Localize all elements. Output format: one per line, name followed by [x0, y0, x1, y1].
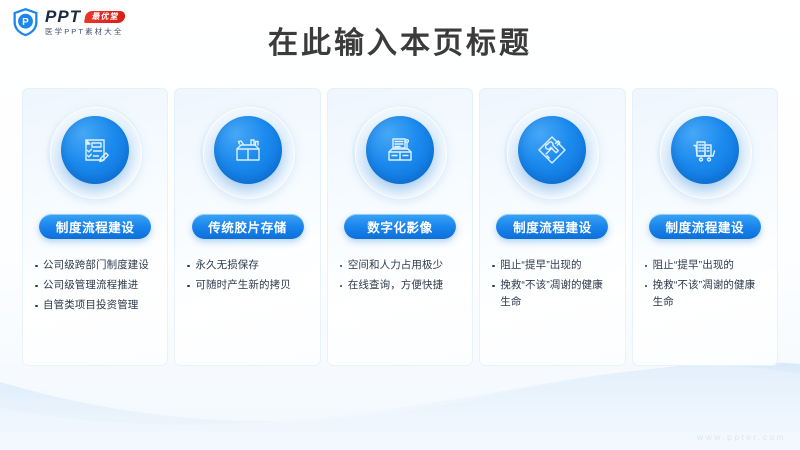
card-bullet-list: 阻止“提早”出现的 挽救“不该”凋谢的健康生命: [479, 257, 625, 314]
bullet-item: 公司级管理流程推进: [34, 277, 155, 294]
card-bullet-list: 阻止“提早”出现的 挽救“不该”凋谢的健康生命: [632, 257, 778, 314]
feature-card[interactable]: 制度流程建设 公司级跨部门制度建设 公司级管理流程推进 自管类项目投资管理: [22, 88, 168, 366]
card-bullet-list: 公司级跨部门制度建设 公司级管理流程推进 自管类项目投资管理: [22, 257, 168, 317]
scanner-printer-icon: [383, 133, 417, 167]
feature-card[interactable]: 传统胶片存储 永久无损保存 可随时产生新的拷贝: [174, 88, 320, 366]
site-watermark: www.ppter.com: [697, 432, 786, 442]
feature-card[interactable]: 制度流程建设 阻止“提早”出现的 挽救“不该”凋谢的健康生命: [479, 88, 625, 366]
card-bullet-list: 永久无损保存 可随时产生新的拷贝: [174, 257, 320, 297]
shopping-cart-buildings-icon: [688, 133, 722, 167]
page-title: 在此输入本页标题: [0, 18, 800, 62]
bullet-item: 自管类项目投资管理: [34, 297, 155, 314]
card-bullet-list: 空间和人力占用极少 在线查询，方便快捷: [327, 257, 473, 297]
bullet-item: 永久无损保存: [186, 257, 307, 274]
clipboard-checklist-pencil-icon: [78, 133, 112, 167]
bullet-item: 空间和人力占用极少: [339, 257, 460, 274]
bullet-item: 阻止“提早”出现的: [644, 257, 765, 274]
bullet-item: 挽救“不该”凋谢的健康生命: [644, 277, 765, 311]
wrench-screwdriver-tools-icon: [535, 133, 569, 167]
card-label: 制度流程建设: [496, 214, 608, 239]
icon-orb: [504, 104, 600, 200]
bullet-item: 阻止“提早”出现的: [491, 257, 612, 274]
open-archive-box-icon: [231, 133, 265, 167]
card-label: 制度流程建设: [39, 214, 151, 239]
icon-orb: [657, 104, 753, 200]
icon-orb: [352, 104, 448, 200]
card-label: 数字化影像: [344, 214, 456, 239]
icon-orb: [200, 104, 296, 200]
card-label: 制度流程建设: [649, 214, 761, 239]
card-label: 传统胶片存储: [192, 214, 304, 239]
icon-orb: [47, 104, 143, 200]
feature-card[interactable]: 制度流程建设 阻止“提早”出现的 挽救“不该”凋谢的健康生命: [632, 88, 778, 366]
feature-card[interactable]: 数字化影像 空间和人力占用极少 在线查询，方便快捷: [327, 88, 473, 366]
bullet-item: 可随时产生新的拷贝: [186, 277, 307, 294]
bullet-item: 在线查询，方便快捷: [339, 277, 460, 294]
bullet-item: 挽救“不该”凋谢的健康生命: [491, 277, 612, 311]
slide-canvas: P PPT 最优堂 医学PPT素材大全 在此输入本页标题: [0, 0, 800, 450]
feature-card-row: 制度流程建设 公司级跨部门制度建设 公司级管理流程推进 自管类项目投资管理: [22, 88, 778, 366]
bullet-item: 公司级跨部门制度建设: [34, 257, 155, 274]
